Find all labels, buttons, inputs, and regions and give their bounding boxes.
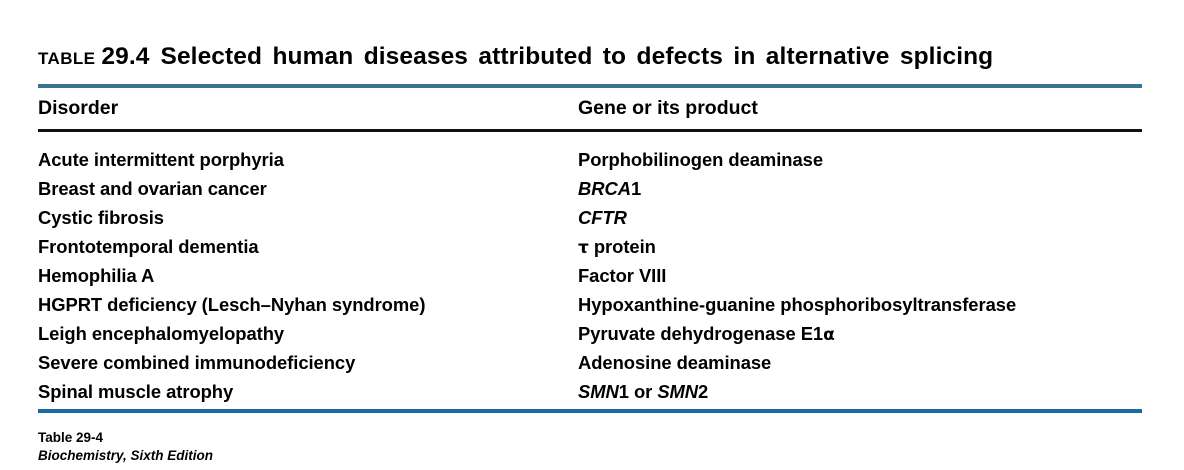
rule-top-accent (38, 84, 1142, 88)
table-title-number: 29.4 (101, 43, 149, 70)
table-title: Table29.4Selected human diseases attribu… (38, 42, 1142, 72)
table-body: Acute intermittent porphyria Porphobilin… (0, 145, 1184, 406)
table-title-label: Table (38, 43, 95, 70)
cell-gene: Porphobilinogen deaminase (578, 145, 823, 174)
table-row: Breast and ovarian cancer BRCA1 (0, 174, 1184, 203)
cell-gene: Pyruvate dehydrogenase E1α (578, 319, 835, 350)
table-row: HGPRT deficiency (Lesch–Nyhan syndrome) … (0, 290, 1184, 319)
table-row: Spinal muscle atrophy SMN1 or SMN2 (0, 377, 1184, 406)
cell-gene: Adenosine deaminase (578, 348, 771, 377)
table-row: Frontotemporal dementia τ protein (0, 232, 1184, 261)
cell-gene: Hypoxanthine-guanine phosphoribosyltrans… (578, 290, 1016, 319)
cell-disorder: Spinal muscle atrophy (38, 377, 233, 406)
table-row: Hemophilia A Factor VIII (0, 261, 1184, 290)
table-row: Cystic fibrosis CFTR (0, 203, 1184, 232)
cell-disorder: Severe combined immunodeficiency (38, 348, 355, 377)
table-figure: Table29.4Selected human diseases attribu… (0, 0, 1184, 470)
figure-caption: Table 29-4 Biochemistry, Sixth Edition (38, 429, 638, 465)
column-header-gene: Gene or its product (578, 95, 758, 121)
caption-source-title: Biochemistry, Sixth Edition (38, 447, 638, 465)
table-title-text: Selected human diseases attributed to de… (161, 43, 994, 70)
cell-disorder: Breast and ovarian cancer (38, 174, 267, 203)
cell-gene: τ protein (578, 232, 656, 263)
rule-bottom-accent (38, 409, 1142, 413)
caption-table-number: Table 29-4 (38, 429, 638, 447)
cell-disorder: Hemophilia A (38, 261, 154, 290)
cell-disorder: Frontotemporal dementia (38, 232, 259, 261)
column-header-disorder: Disorder (38, 95, 118, 121)
cell-disorder: HGPRT deficiency (Lesch–Nyhan syndrome) (38, 290, 425, 319)
table-row: Severe combined immunodeficiency Adenosi… (0, 348, 1184, 377)
table-row: Acute intermittent porphyria Porphobilin… (0, 145, 1184, 174)
cell-disorder: Cystic fibrosis (38, 203, 164, 232)
cell-disorder: Leigh encephalomyelopathy (38, 319, 284, 348)
cell-gene: SMN1 or SMN2 (578, 377, 708, 406)
cell-gene: BRCA1 (578, 174, 641, 203)
cell-gene: Factor VIII (578, 261, 666, 290)
cell-disorder: Acute intermittent porphyria (38, 145, 284, 174)
rule-header-separator (38, 129, 1142, 132)
cell-gene: CFTR (578, 203, 627, 232)
table-row: Leigh encephalomyelopathy Pyruvate dehyd… (0, 319, 1184, 348)
